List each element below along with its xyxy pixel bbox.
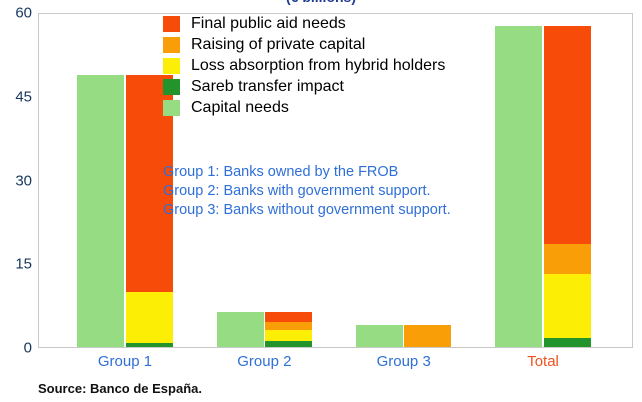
chart-legend: Final public aid needsRaising of private… xyxy=(163,13,493,118)
bar-segment-capital-needs xyxy=(77,75,124,347)
bar-segment-capital-needs xyxy=(217,312,264,347)
legend-item-capital-needs[interactable]: Capital needs xyxy=(163,97,493,118)
y-axis: 015304560 xyxy=(0,0,36,402)
y-axis-tick-45: 45 xyxy=(15,89,32,104)
bar-group-1-capital-needs xyxy=(77,75,124,347)
chart-title-strip: (€ billions) xyxy=(0,0,642,7)
bar-segment-raising-of-private-capital xyxy=(265,322,312,330)
legend-item-label: Loss absorption from hybrid holders xyxy=(191,58,445,74)
legend-item-loss-absorption-from-hybrid-holders[interactable]: Loss absorption from hybrid holders xyxy=(163,55,493,76)
bar-segment-loss-absorption-from-hybrid-holders xyxy=(544,274,591,338)
bar-segment-raising-of-private-capital xyxy=(404,325,451,347)
bar-segment-capital-needs xyxy=(495,26,542,347)
bar-segment-loss-absorption-from-hybrid-holders xyxy=(126,292,173,344)
legend-item-label: Capital needs xyxy=(191,100,289,116)
y-axis-tick-30: 30 xyxy=(15,173,32,188)
source-note: Source: Banco de España. xyxy=(38,381,202,396)
bar-group-3-coverage xyxy=(404,325,451,347)
bar-segment-sareb-transfer-impact xyxy=(544,338,591,347)
y-axis-tick-0: 0 xyxy=(24,341,32,356)
bar-group-2-coverage xyxy=(265,312,312,347)
x-axis-labels: Group 1Group 2Group 3Total xyxy=(39,352,632,374)
bar-segment-raising-of-private-capital xyxy=(544,244,591,274)
bar-total-capital-needs xyxy=(495,26,542,347)
legend-item-final-public-aid-needs[interactable]: Final public aid needs xyxy=(163,13,493,34)
bar-segment-capital-needs xyxy=(356,325,403,347)
legend-swatch-icon xyxy=(163,37,180,53)
annotation-line-1: Group 1: Banks owned by the FROB xyxy=(163,163,451,182)
bar-segment-sareb-transfer-impact xyxy=(126,343,173,347)
annotation-line-2: Group 2: Banks with government support. xyxy=(163,182,451,201)
bar-total-coverage xyxy=(544,26,591,347)
bar-group-3-capital-needs xyxy=(356,325,403,347)
legend-swatch-icon xyxy=(163,16,180,32)
y-axis-tick-15: 15 xyxy=(15,257,32,272)
chart-root: (€ billions) 015304560 Final public aid … xyxy=(0,0,642,402)
legend-swatch-icon xyxy=(163,100,180,116)
bar-group-2-capital-needs xyxy=(217,312,264,347)
x-axis-label-group-3: Group 3 xyxy=(377,352,431,372)
legend-swatch-icon xyxy=(163,58,180,74)
bar-segment-final-public-aid-needs xyxy=(544,26,591,245)
page-title: (€ billions) xyxy=(0,0,642,5)
y-axis-tick-60: 60 xyxy=(15,6,32,21)
bar-segment-sareb-transfer-impact xyxy=(265,341,312,347)
group-definitions-annotation: Group 1: Banks owned by the FROBGroup 2:… xyxy=(163,163,451,220)
annotation-line-3: Group 3: Banks without government suppor… xyxy=(163,201,451,220)
legend-item-label: Raising of private capital xyxy=(191,37,365,53)
x-axis-label-group-1: Group 1 xyxy=(98,352,152,372)
bar-segment-loss-absorption-from-hybrid-holders xyxy=(265,330,312,342)
legend-item-raising-of-private-capital[interactable]: Raising of private capital xyxy=(163,34,493,55)
legend-item-label: Final public aid needs xyxy=(191,16,346,32)
legend-item-sareb-transfer-impact[interactable]: Sareb transfer impact xyxy=(163,76,493,97)
bar-segment-final-public-aid-needs xyxy=(265,312,312,322)
x-axis-label-total: Total xyxy=(527,352,559,372)
x-axis-label-group-2: Group 2 xyxy=(237,352,291,372)
legend-swatch-icon xyxy=(163,79,180,95)
legend-item-label: Sareb transfer impact xyxy=(191,79,344,95)
